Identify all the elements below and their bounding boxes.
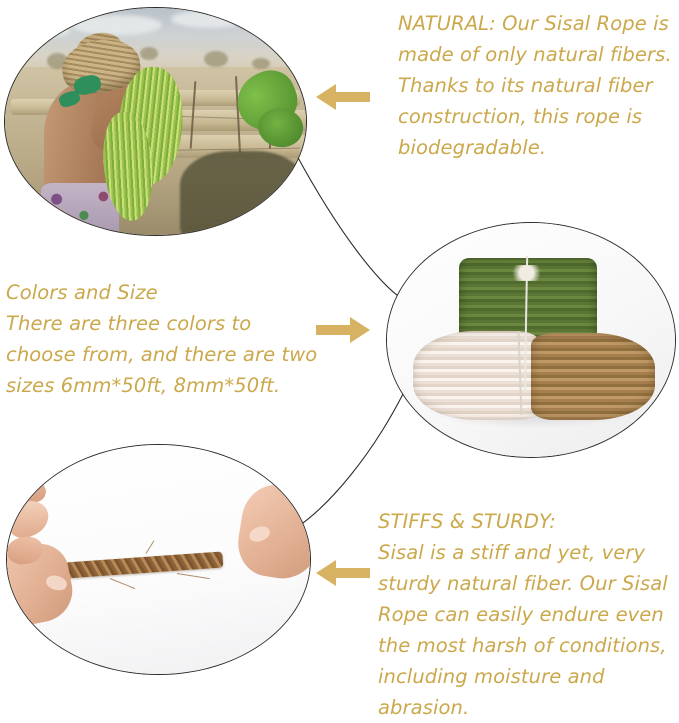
string-knot xyxy=(508,265,545,281)
arrow-to-hands-photo xyxy=(316,558,370,588)
stiffs-and-sturdy-text: STIFFS & STURDY: Sisal is a stiff and ye… xyxy=(378,506,678,723)
sisal-harvesting-photo xyxy=(4,7,307,236)
hands-scene xyxy=(7,445,310,674)
field-foreground-shadow xyxy=(180,151,306,236)
colors-and-size-text: Colors and Size There are three colors t… xyxy=(6,277,326,401)
coils-scene xyxy=(387,223,675,457)
hands-holding-rope-photo xyxy=(6,444,311,675)
left-arrow-icon xyxy=(316,560,370,586)
rope-coils-photo xyxy=(386,222,676,458)
tree-icon xyxy=(204,51,228,67)
cloud-icon xyxy=(71,15,161,35)
left-arrow-icon xyxy=(316,84,370,110)
infographic-canvas: NATURAL: Our Sisal Rope is made of only … xyxy=(0,0,679,679)
harvest-scene xyxy=(5,8,306,235)
arrow-to-harvest-photo xyxy=(316,82,370,112)
natural-feature-text: NATURAL: Our Sisal Rope is made of only … xyxy=(398,8,674,163)
natural-rope-coil xyxy=(531,333,655,420)
